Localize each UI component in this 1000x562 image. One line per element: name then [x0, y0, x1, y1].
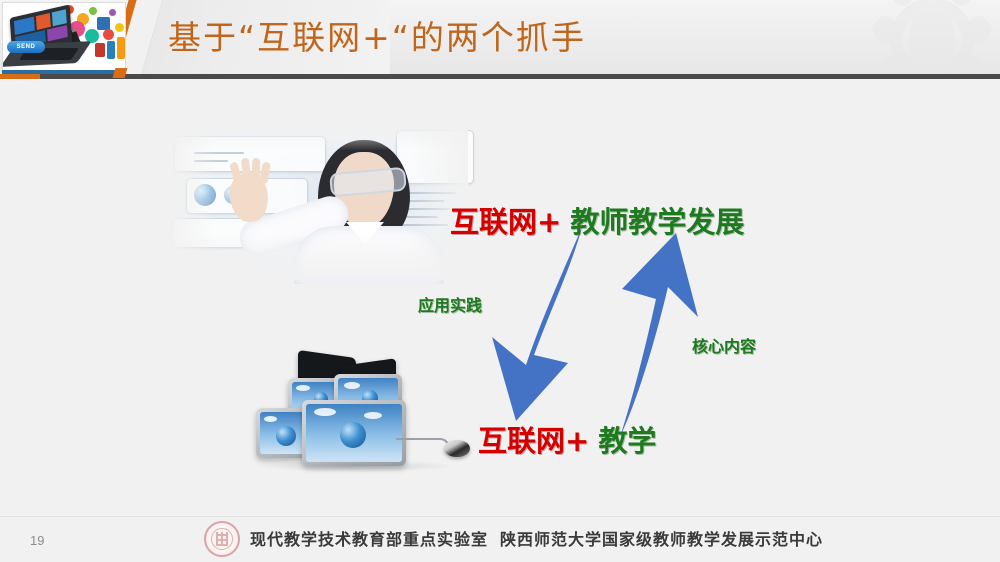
- send-label: SEND: [7, 41, 45, 53]
- slide-canvas: SEND 基于“互联网+“的两个抓手: [0, 0, 1000, 562]
- label-core-content: 核心内容: [692, 333, 756, 357]
- label-application-practice: 应用实践: [418, 292, 482, 316]
- label-top-red: 互联网+: [450, 205, 561, 239]
- curved-arrow-down-left-icon: [492, 227, 582, 421]
- slide-header: SEND 基于“互联网+“的两个抓手: [0, 0, 1000, 78]
- label-top-green: 教师教学发展: [570, 205, 744, 239]
- label-bottom-red: 互联网+: [478, 424, 589, 458]
- university-seal-watermark-icon: [872, 0, 992, 78]
- send-button-graphic: SEND: [7, 41, 45, 53]
- label-bottom-green: 教学: [598, 424, 656, 458]
- label-bottom: 互联网+教学: [478, 418, 656, 460]
- woman-touching-holographic-interface: [168, 122, 468, 280]
- header-rule-accent: [0, 74, 40, 79]
- diagram-arrows: [470, 225, 730, 440]
- header-rule: [0, 74, 1000, 79]
- footer-divider: [0, 516, 1000, 517]
- computer-mouse-icon: [444, 440, 470, 457]
- footer-center-name: 陕西师范大学国家级教师教学发展示范中心: [500, 526, 823, 550]
- red-university-seal-icon: [204, 521, 240, 557]
- page-number: 19: [30, 533, 44, 548]
- curved-arrow-up-right-icon: [620, 233, 698, 437]
- laptop-multimedia-icon: SEND: [2, 2, 126, 74]
- mouse-cord: [396, 438, 450, 454]
- footer-lab-name: 现代教学技术教育部重点实验室: [250, 526, 488, 550]
- page-title: 基于“互联网+“的两个抓手: [168, 13, 868, 63]
- multiple-tablet-screens-with-mouse: [246, 352, 476, 474]
- label-top: 互联网+教师教学发展: [450, 199, 744, 241]
